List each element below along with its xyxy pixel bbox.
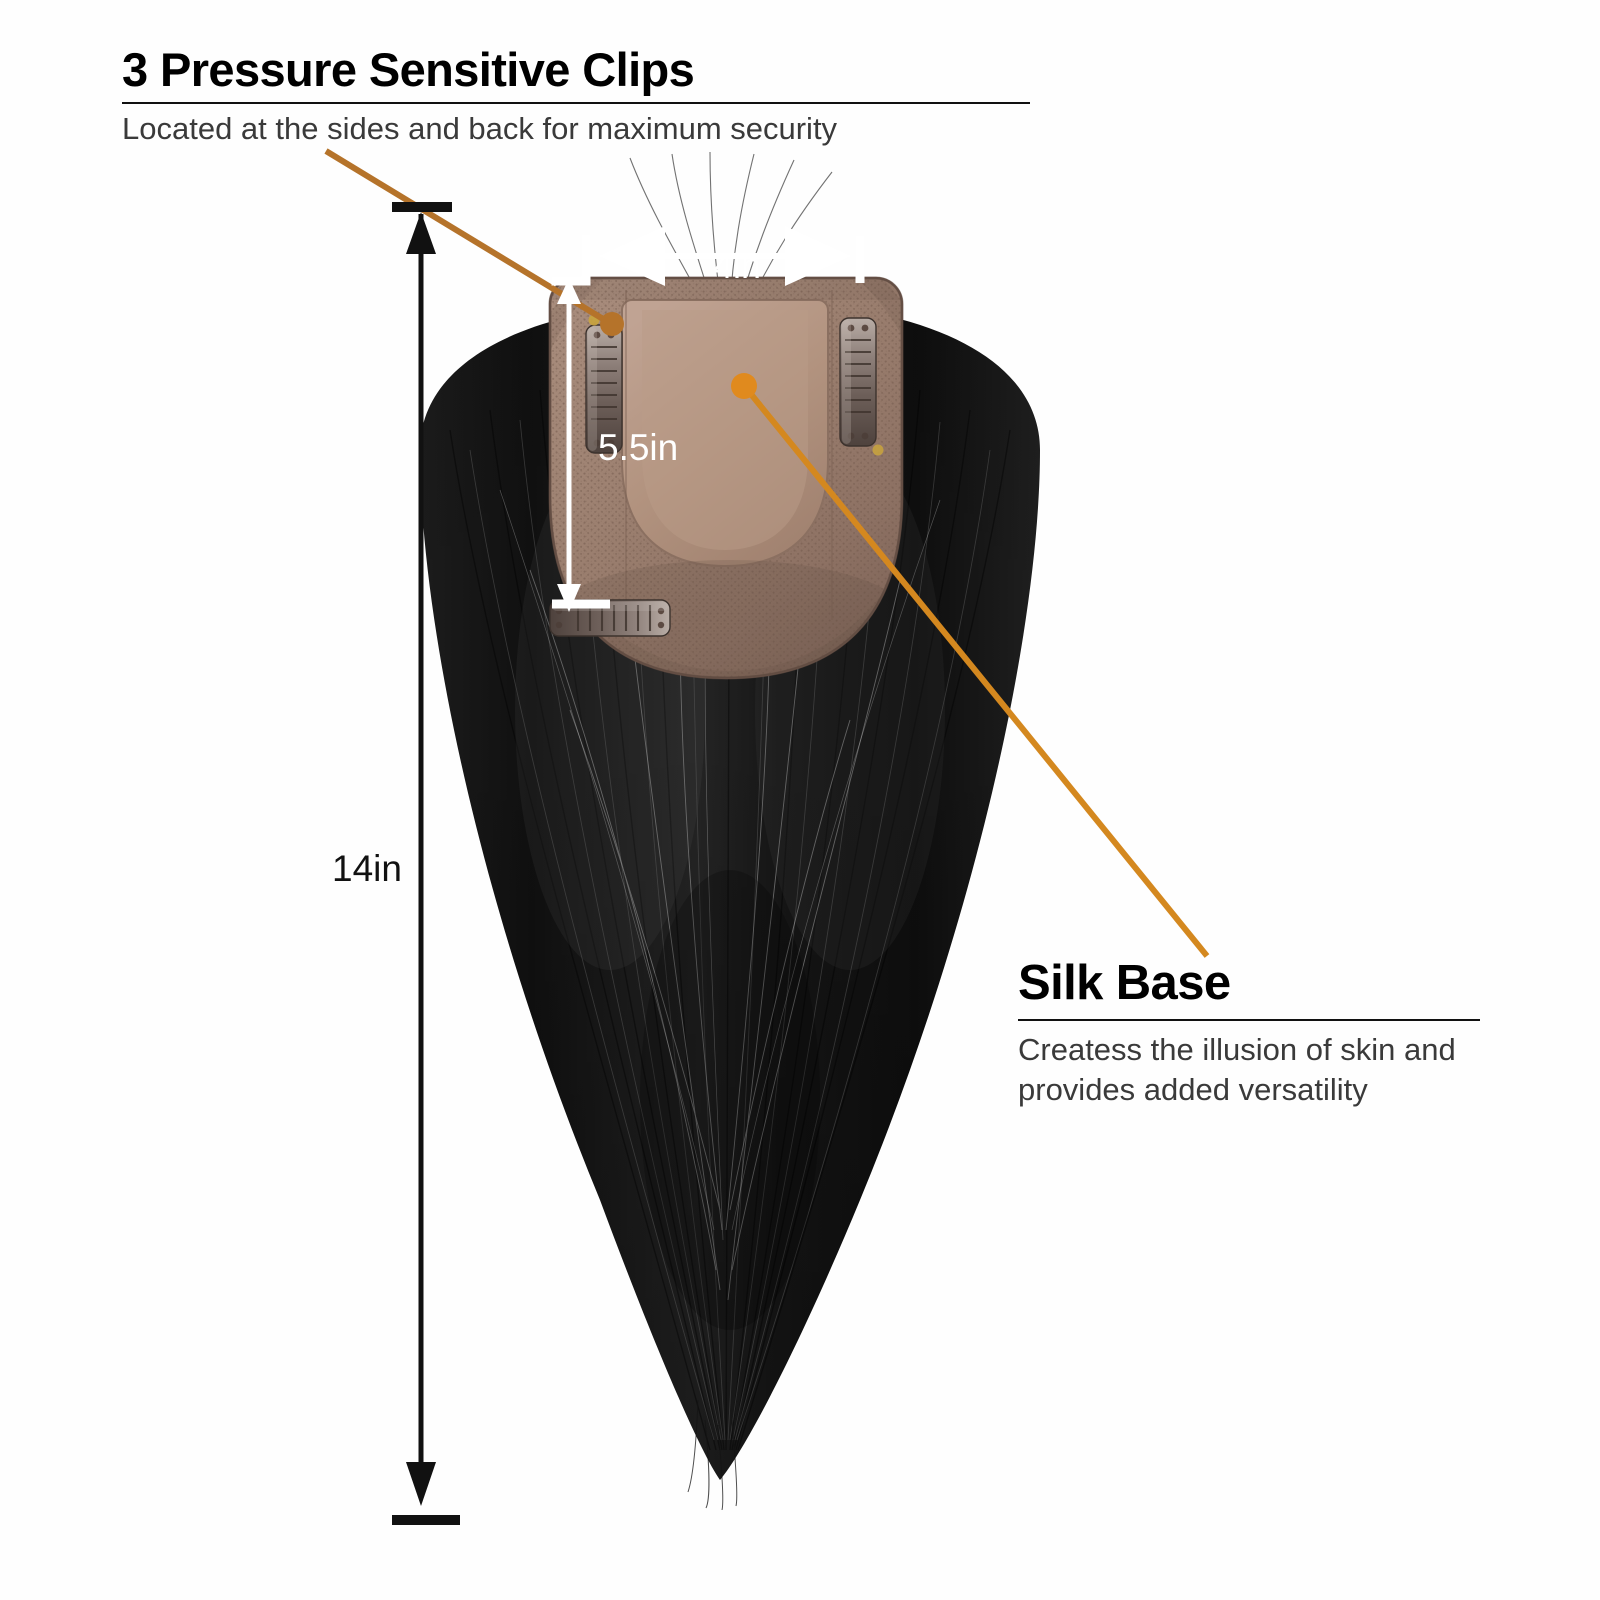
- silk-heading: Silk Base: [1018, 958, 1508, 1009]
- silk-subtext: Createss the illusion of skin and provid…: [1018, 1030, 1488, 1111]
- silk-divider: [1018, 1019, 1480, 1021]
- clips-subtext: Located at the sides and back for maximu…: [122, 109, 1052, 149]
- clips-divider: [122, 102, 1030, 104]
- clips-heading: 3 Pressure Sensitive Clips: [122, 46, 1052, 95]
- product-image: [380, 150, 1080, 1510]
- callout-clips: 3 Pressure Sensitive Clips Located at th…: [122, 46, 1052, 149]
- callout-silk-base: Silk Base Createss the illusion of skin …: [1018, 958, 1508, 1111]
- dimension-label-4in: 4in: [713, 248, 761, 284]
- infographic-canvas: 4in 5.5in 14in 3 Pressure Sensitive Clip…: [0, 0, 1600, 1600]
- dimension-label-14in: 14in: [332, 850, 402, 887]
- dimension-label-5-5in: 5.5in: [598, 429, 678, 466]
- clip-bottom: [550, 600, 670, 636]
